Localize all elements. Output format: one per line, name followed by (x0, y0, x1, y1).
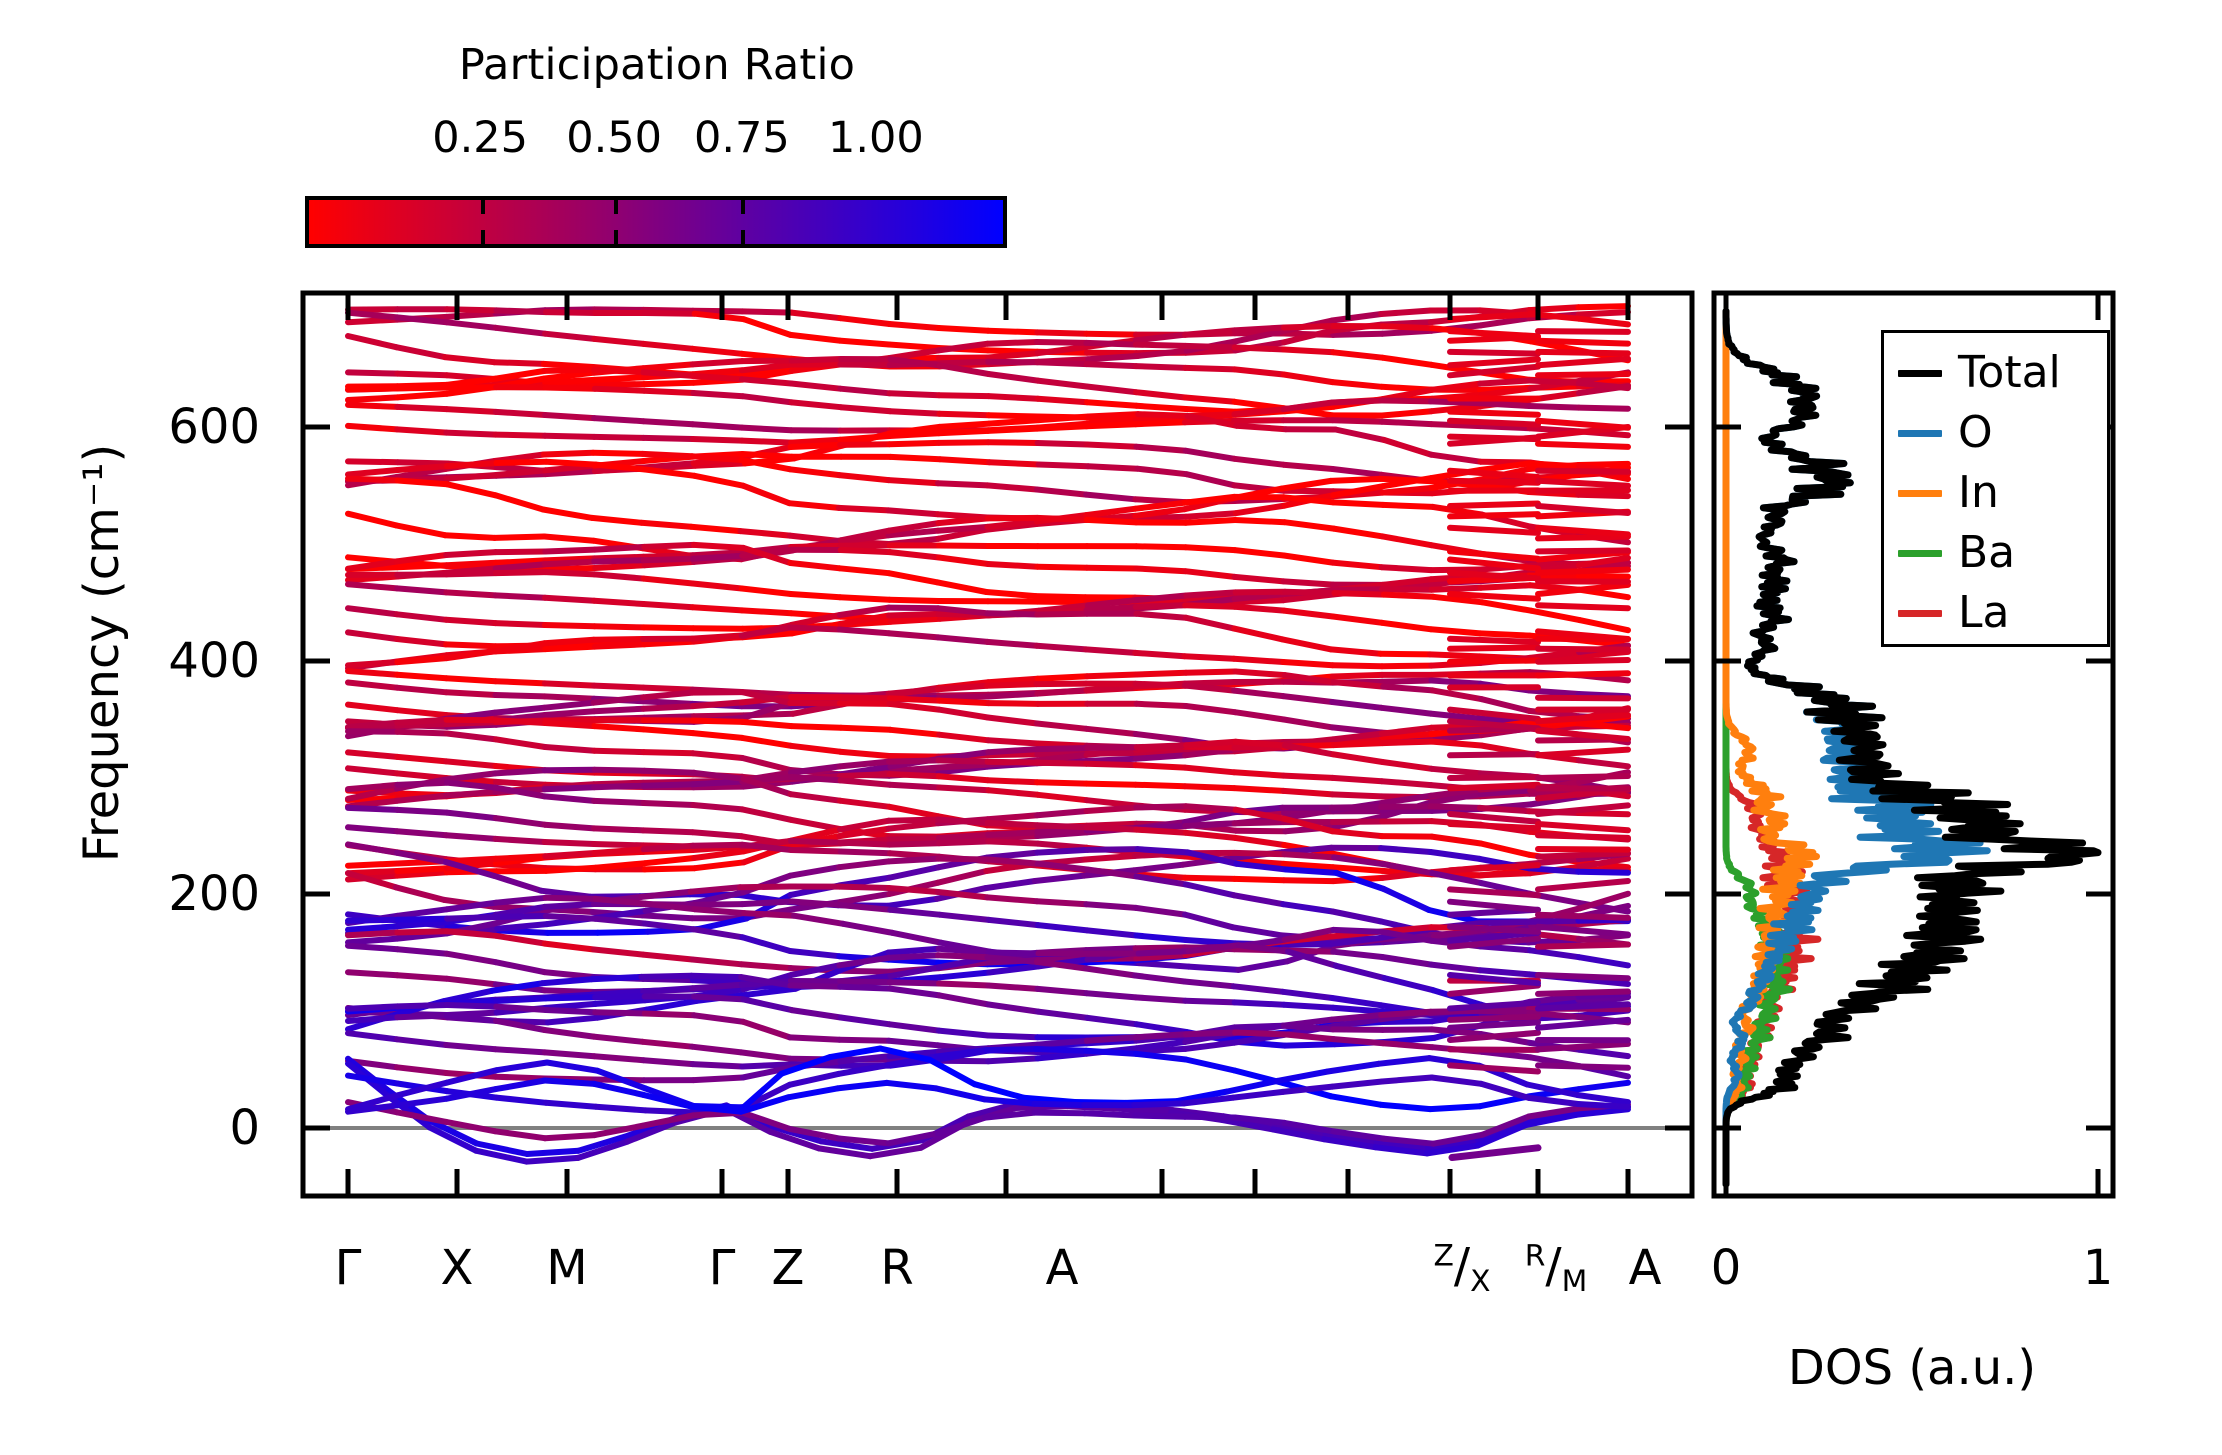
legend-label-total: Total (1958, 351, 2061, 395)
band-segment (1530, 315, 1579, 319)
band-segment (939, 963, 988, 969)
band-segment (1382, 567, 1431, 570)
band-segment (496, 787, 545, 792)
band-segment (1284, 1005, 1333, 1008)
band-segment (1384, 936, 1434, 939)
band-segment (793, 705, 842, 714)
band-segment (1480, 1011, 1530, 1013)
band-segment (545, 373, 594, 379)
band-segment (595, 1012, 644, 1013)
band-segment (1087, 568, 1136, 569)
band-segment (596, 899, 646, 904)
band-segment (1137, 673, 1187, 675)
band-segment (447, 409, 496, 412)
band-segment (1284, 595, 1333, 601)
band-segment (742, 841, 791, 847)
band-segment (1038, 417, 1087, 418)
band-segment (1284, 334, 1333, 335)
band-segment (1531, 797, 1580, 805)
band-segment (1037, 602, 1086, 603)
band-segment (1185, 751, 1234, 752)
band-segment (446, 1000, 495, 1004)
band-segment (841, 617, 890, 619)
band-segment (1186, 833, 1235, 838)
dos-panel-xlabel: DOS (a.u.) (1788, 1340, 2036, 1396)
band-segment (446, 1073, 495, 1077)
band-segment (1087, 402, 1136, 406)
band-segment (348, 388, 397, 389)
band-segment (1480, 463, 1529, 470)
band-segment (1383, 488, 1432, 493)
band-segment (1235, 402, 1284, 408)
band-segment (986, 592, 1035, 596)
legend-item-ba[interactable]: Ba (1884, 523, 2107, 583)
band-flat-segment (1450, 367, 1538, 376)
band-segment (1036, 520, 1086, 524)
band-segment (348, 946, 398, 950)
band-segment (447, 722, 496, 724)
band-segment (644, 706, 693, 709)
band-flat-segment (1450, 939, 1538, 947)
band-segment (790, 1037, 839, 1039)
band-segment (939, 841, 988, 843)
band-segment (840, 389, 889, 394)
band-ytick-label-600: 600 (60, 399, 260, 455)
band-segment (1530, 934, 1579, 939)
band-segment (544, 640, 593, 644)
band-segment (1526, 1111, 1577, 1120)
band-segment (1480, 859, 1529, 868)
band-segment (742, 836, 791, 844)
band-segment (447, 734, 496, 740)
band-segment (1529, 1098, 1578, 1104)
band-segment (1529, 711, 1578, 716)
band-segment (1234, 772, 1283, 775)
band-segment (545, 562, 594, 565)
band-segment (447, 720, 496, 724)
band-segment (545, 711, 594, 715)
band-segment (1331, 1096, 1380, 1104)
band-segment (1429, 1058, 1479, 1066)
band-segment (496, 569, 546, 570)
band-segment (989, 420, 1039, 424)
band-segment (840, 752, 889, 756)
band-segment (1126, 1101, 1177, 1103)
band-segment (936, 1088, 985, 1099)
band-segment (1037, 691, 1086, 693)
band-flat-segment (1538, 551, 1628, 552)
band-segment (1185, 857, 1234, 861)
band-segment (840, 359, 889, 364)
band-segment (987, 831, 1037, 833)
band-segment (743, 782, 792, 787)
band-segment (1088, 356, 1137, 359)
band-segment (1135, 598, 1185, 600)
band-segment (1431, 714, 1480, 719)
band-segment (477, 1144, 527, 1155)
legend-item-o[interactable]: O (1884, 403, 2107, 463)
band-segment (496, 936, 545, 944)
band-segment (1531, 381, 1580, 389)
band-segment (398, 1013, 448, 1017)
band-segment (1482, 1117, 1529, 1135)
band-segment (643, 372, 692, 376)
band-segment (1333, 1008, 1382, 1012)
band-segment (348, 1008, 397, 1012)
band-segment (1037, 426, 1086, 428)
band-segment (1530, 1043, 1579, 1050)
band-segment (889, 772, 938, 775)
band-segment (397, 725, 446, 727)
band-segment (988, 564, 1037, 567)
band-segment (495, 770, 545, 773)
band-flat-segment (1450, 710, 1538, 719)
band-flat-segment (1538, 945, 1628, 947)
band-flat-segment (1538, 750, 1628, 756)
band-segment (1185, 1033, 1234, 1042)
band-segment (940, 364, 990, 366)
band-segment (545, 598, 594, 601)
band-segment (1136, 955, 1185, 958)
band-segment (1187, 474, 1235, 485)
band-segment (693, 637, 742, 639)
band-segment (988, 762, 1037, 763)
band-segment (1016, 1106, 1068, 1108)
band-segment (742, 773, 791, 781)
band-segment (1285, 746, 1334, 755)
band-segment (447, 566, 496, 569)
band-segment (790, 770, 839, 774)
band-segment (595, 786, 645, 787)
band-segment (988, 694, 1037, 697)
band-ytick-label-0: 0 (60, 1100, 260, 1156)
band-segment (397, 720, 446, 723)
band-segment (348, 914, 398, 920)
band-segment (791, 615, 840, 625)
band-segment (348, 477, 397, 485)
band-segment (1234, 745, 1283, 750)
band-segment (1431, 927, 1480, 928)
band-segment (1037, 830, 1086, 832)
band-segment (397, 573, 446, 577)
band-segment (986, 881, 1035, 888)
band-segment (1530, 950, 1579, 957)
band-segment (447, 871, 497, 872)
band-segment (1283, 1087, 1333, 1092)
band-segment (1382, 957, 1431, 965)
band-segment (496, 328, 545, 334)
band-segment (1138, 414, 1188, 416)
band-segment (1432, 873, 1481, 883)
band-segment (497, 1063, 547, 1071)
band-segment (1481, 1002, 1529, 1014)
band-segment (1382, 864, 1431, 874)
band-segment (1233, 489, 1282, 499)
band-segment (693, 704, 742, 706)
band-segment (696, 1107, 745, 1113)
band-segment (595, 574, 644, 578)
band-segment (1333, 400, 1382, 403)
band-segment (1234, 788, 1283, 791)
band-flat-segment (1450, 331, 1538, 336)
band-segment (1480, 381, 1529, 384)
band-segment (496, 379, 545, 383)
band-segment (1331, 479, 1381, 481)
band-segment (889, 955, 939, 958)
band-segment (1382, 796, 1431, 803)
band-segment (1283, 639, 1332, 649)
band-segment (1382, 579, 1431, 585)
band-segment (1432, 681, 1481, 684)
band-segment (988, 331, 1037, 333)
band-segment (1136, 1049, 1186, 1052)
band-segment (1432, 325, 1481, 330)
band-segment (694, 718, 743, 722)
band-segment (938, 820, 987, 824)
band-segment (792, 981, 841, 985)
band-segment (1580, 906, 1628, 917)
band-segment (1383, 399, 1432, 400)
band-segment (988, 897, 1037, 901)
band-segment (643, 979, 693, 980)
band-flat-segment (1450, 910, 1538, 915)
band-segment (446, 713, 495, 719)
band-segment (938, 582, 987, 592)
colorbar[interactable] (305, 196, 1007, 248)
band-segment (1136, 546, 1185, 547)
band-segment (1328, 1064, 1379, 1072)
band-segment (695, 862, 744, 868)
band-segment (596, 1107, 646, 1111)
band-segment (446, 1122, 495, 1131)
band-segment (1481, 1005, 1529, 1019)
band-segment (1579, 646, 1628, 652)
colorbar-tick-bottom-3 (741, 230, 745, 244)
band-segment (645, 313, 695, 314)
band-segment (1579, 994, 1628, 997)
band-segment (1530, 585, 1579, 589)
band-flat-segment (1450, 661, 1538, 662)
band-flat-segment (1538, 552, 1628, 559)
band-segment (397, 1004, 446, 1008)
band-segment (578, 1142, 627, 1158)
band-segment (1579, 1050, 1628, 1056)
band-segment (545, 785, 595, 787)
band-segment (841, 841, 890, 843)
band-segment (1186, 1060, 1235, 1071)
band-segment (891, 359, 940, 365)
band-flat-segment (1538, 631, 1628, 639)
band-segment (595, 547, 645, 550)
legend-item-in[interactable]: In (1884, 463, 2107, 523)
band-segment (1431, 965, 1480, 971)
band-segment (839, 1139, 889, 1144)
band-segment (1235, 328, 1284, 331)
band-segment (1235, 712, 1284, 719)
band-segment (1037, 352, 1087, 353)
band-segment (546, 1010, 596, 1012)
band-segment (1383, 740, 1433, 743)
band-segment (496, 984, 545, 990)
band-segment (645, 1088, 693, 1106)
band-flat-segment (1450, 337, 1538, 341)
band-segment (939, 765, 988, 768)
band-segment (594, 370, 643, 373)
band-segment (938, 816, 987, 825)
band-segment (1087, 445, 1136, 447)
band-segment (988, 1045, 1037, 1049)
band-segment (645, 924, 694, 930)
band-segment (1482, 515, 1530, 527)
band-segment (643, 915, 693, 918)
band-segment (1382, 781, 1431, 785)
band-segment (1284, 590, 1333, 594)
band-segment (791, 1061, 840, 1067)
band-segment (1530, 636, 1579, 641)
band-segment (1480, 310, 1529, 314)
colorbar-tick-label-2: 0.50 (566, 113, 662, 163)
band-segment (545, 944, 594, 950)
band-segment (743, 551, 792, 558)
legend-label-in: In (1958, 471, 1999, 515)
band-segment (1579, 726, 1628, 727)
band-segment (890, 910, 939, 915)
legend-item-la[interactable]: La (1884, 583, 2107, 643)
band-segment (397, 588, 446, 592)
band-segment (1480, 729, 1529, 735)
band-segment (1333, 491, 1382, 492)
band-flat-segment (1450, 573, 1538, 579)
band-flat-segment (1538, 471, 1628, 472)
band-segment (1239, 945, 1289, 951)
band-segment (396, 525, 445, 535)
band-segment (988, 679, 1037, 683)
band-segment (889, 859, 939, 862)
band-segment (398, 466, 448, 470)
band-segment (792, 540, 840, 550)
band-segment (1236, 426, 1286, 430)
band-segment (841, 695, 890, 705)
band-segment (595, 849, 644, 853)
band-segment (1088, 466, 1137, 468)
band-xtick-label-x: X (441, 1240, 474, 1296)
band-segment (545, 854, 594, 858)
colorbar-tick-bottom-1 (481, 230, 485, 244)
band-segment (397, 374, 446, 376)
band-segment (890, 838, 939, 841)
band-segment (791, 445, 840, 447)
band-segment (1087, 687, 1136, 691)
band-segment (840, 981, 889, 982)
figure-canvas: Participation Ratio 0.25 0.50 0.75 1.00 … (0, 0, 2222, 1455)
band-segment (598, 932, 648, 933)
band-flat-segment (1538, 739, 1628, 740)
band-segment (1087, 1037, 1136, 1041)
band-segment (1136, 806, 1186, 807)
band-segment (1284, 741, 1333, 742)
band-segment (1530, 859, 1579, 864)
band-segment (545, 550, 595, 552)
band-segment (643, 693, 692, 698)
band-segment (939, 776, 988, 780)
band-segment (840, 597, 889, 600)
band-segment (397, 317, 446, 320)
band-segment (397, 868, 446, 871)
band-segment (496, 839, 545, 842)
band-segment (1333, 352, 1382, 357)
band-segment (643, 955, 692, 960)
band-segment (743, 1074, 781, 1108)
band-segment (1137, 745, 1186, 747)
band-segment (496, 470, 545, 475)
band-segment (595, 1000, 645, 1004)
band-segment (693, 349, 742, 354)
band-segment (447, 715, 496, 718)
band-segment (692, 556, 742, 559)
band-segment (1433, 690, 1482, 699)
band-segment (889, 1133, 938, 1143)
band-segment (742, 628, 791, 636)
band-segment (1481, 746, 1530, 754)
band-segment (595, 1080, 645, 1081)
band-segment (1480, 1009, 1530, 1010)
band-segment (1273, 1130, 1324, 1140)
band-segment (447, 792, 496, 796)
band-segment (348, 731, 398, 732)
band-segment (694, 851, 743, 858)
band-segment (940, 424, 990, 427)
band-xtick-label-r-over-m: R/M (1525, 1238, 1588, 1299)
band-segment (1579, 760, 1628, 766)
band-segment (693, 1113, 743, 1116)
band-segment (987, 524, 1036, 530)
band-segment (595, 461, 644, 466)
band-segment (1235, 1118, 1285, 1123)
band-segment (594, 697, 643, 702)
band-segment (1481, 1011, 1530, 1015)
band-segment (545, 558, 594, 560)
band-segment (1189, 967, 1239, 970)
band-flat-segment (1450, 728, 1538, 730)
band-segment (1185, 414, 1234, 416)
band-segment (891, 1059, 940, 1065)
band-segment (595, 770, 645, 771)
band-segment (989, 374, 1038, 381)
band-flat-segment (1450, 437, 1538, 440)
band-segment (889, 867, 938, 877)
band-segment (1480, 928, 1530, 932)
band-segment (791, 766, 840, 772)
band-segment (939, 442, 988, 443)
band-segment (348, 671, 397, 675)
band-segment (1284, 408, 1333, 415)
band-segment (743, 486, 789, 504)
legend-item-total[interactable]: Total (1884, 343, 2107, 403)
band-segment (1185, 656, 1234, 659)
band-segment (889, 539, 938, 544)
band-segment (546, 898, 596, 899)
band-segment (1382, 872, 1431, 878)
band-segment (496, 788, 545, 797)
band-segment (792, 1010, 841, 1017)
band-segment (1235, 1071, 1283, 1084)
band-segment (742, 910, 791, 919)
band-segment (989, 966, 1038, 972)
band-segment (446, 835, 495, 839)
band-segment (496, 789, 545, 793)
band-segment (1433, 934, 1482, 939)
band-segment (742, 365, 791, 371)
